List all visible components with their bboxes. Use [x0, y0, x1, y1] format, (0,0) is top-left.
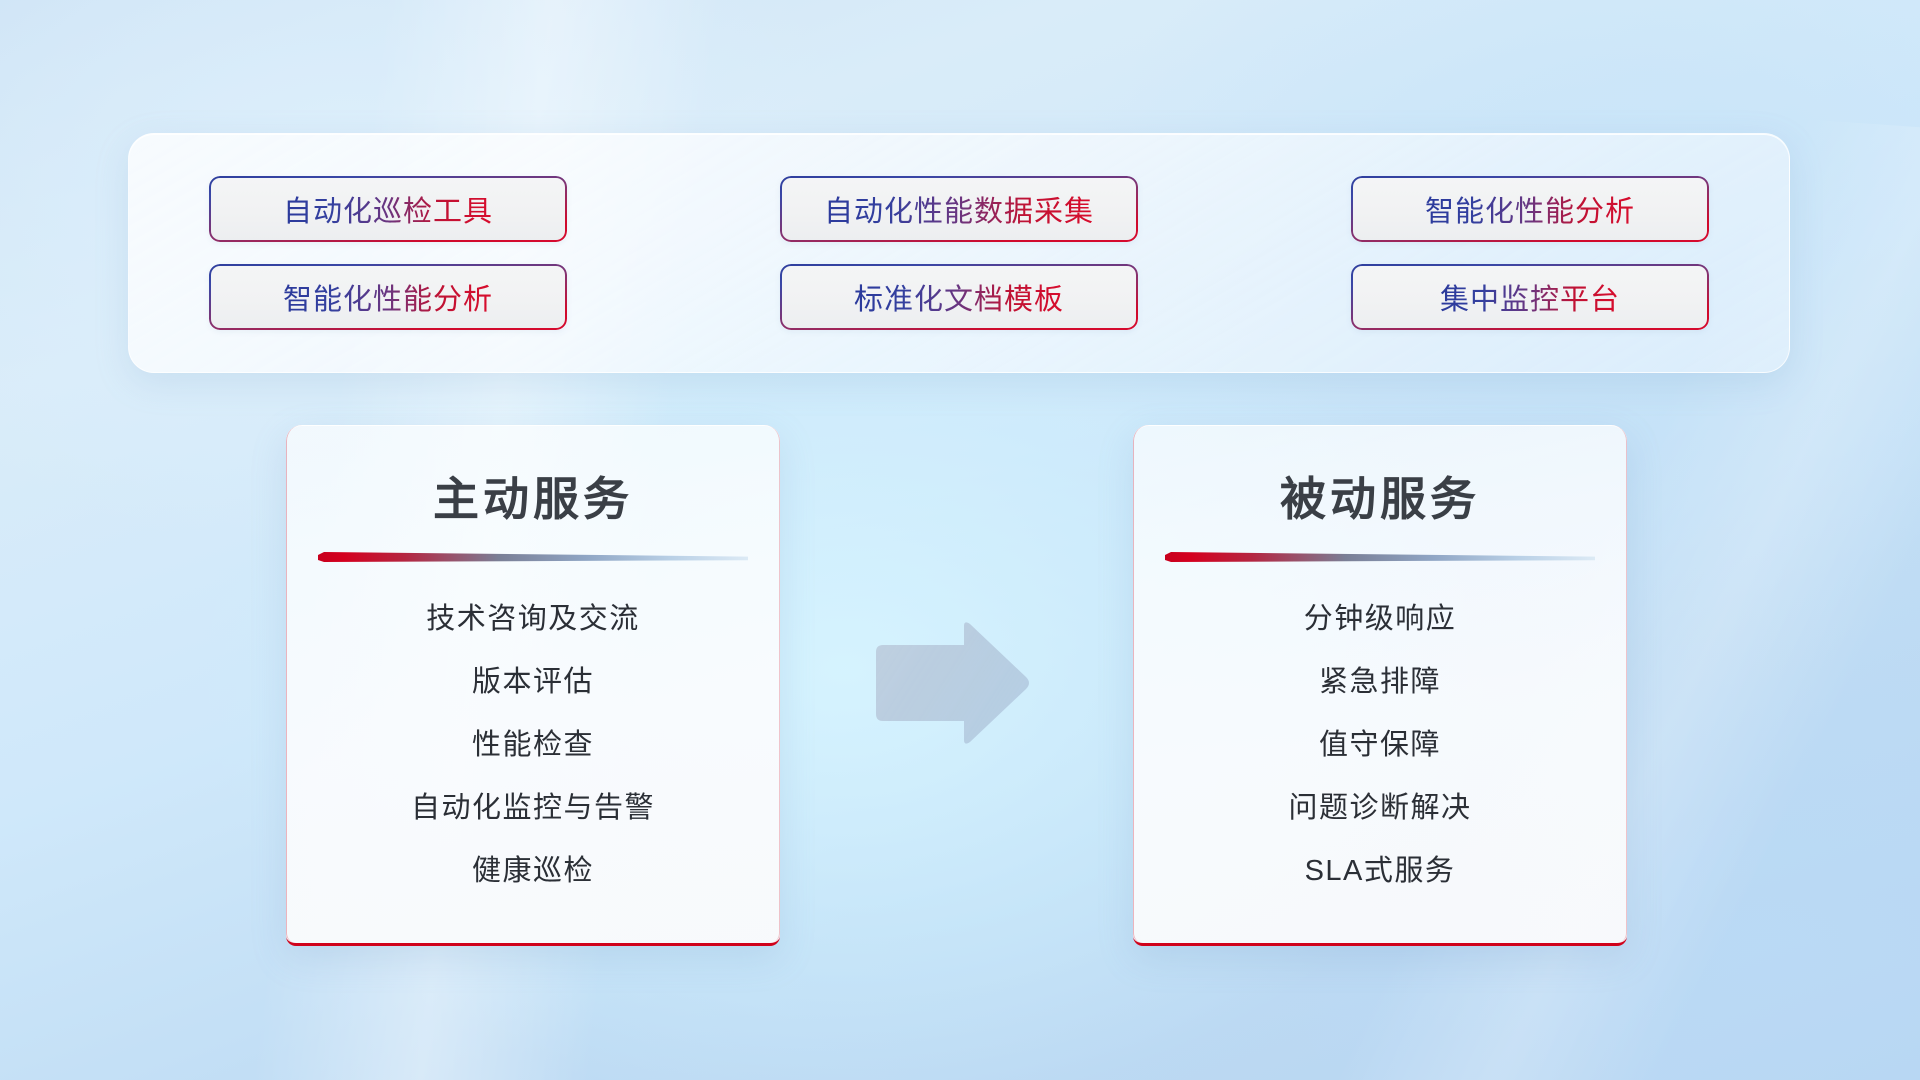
capabilities-panel: 自动化巡检工具 自动化性能数据采集 智能化性能分析 智能化性能分析 标准化文档模…	[128, 133, 1790, 373]
capability-chip[interactable]: 自动化巡检工具	[209, 176, 567, 242]
list-item: 值守保障	[1319, 727, 1441, 764]
flow-arrow-right-icon	[872, 620, 1032, 750]
list-item: 健康巡检	[472, 853, 594, 890]
capabilities-row-2: 智能化性能分析 标准化文档模板 集中监控平台	[209, 264, 1709, 330]
list-item: 分钟级响应	[1304, 601, 1457, 638]
capability-chip[interactable]: 智能化性能分析	[1351, 176, 1709, 242]
card-divider	[1165, 551, 1595, 567]
capability-chip-label: 智能化性能分析	[1425, 188, 1635, 230]
capability-chip[interactable]: 标准化文档模板	[780, 264, 1138, 330]
list-item: 版本评估	[472, 664, 594, 701]
capability-chip-label: 自动化巡检工具	[283, 188, 493, 230]
card-title: 主动服务	[286, 463, 780, 529]
card-title: 被动服务	[1133, 463, 1627, 529]
list-item: 性能检查	[472, 727, 594, 764]
service-card-proactive: 主动服务 技术咨询及交流 版本评估	[286, 425, 780, 946]
capability-chip-label: 自动化性能数据采集	[824, 188, 1094, 230]
list-item: 自动化监控与告警	[411, 790, 655, 827]
service-card-reactive: 被动服务 分钟级响应 紧急排障	[1133, 425, 1627, 946]
capabilities-row-1: 自动化巡检工具 自动化性能数据采集 智能化性能分析	[209, 176, 1709, 242]
list-item: 问题诊断解决	[1288, 790, 1471, 827]
card-divider	[318, 551, 748, 567]
tapered-divider-icon	[1165, 551, 1595, 567]
list-item: SLA式服务	[1305, 853, 1456, 890]
service-list: 技术咨询及交流 版本评估 性能检查 自动化监控与告警 健康巡检	[286, 601, 780, 891]
capability-chip-label: 集中监控平台	[1440, 276, 1620, 318]
list-item: 紧急排障	[1319, 664, 1441, 701]
capability-chip[interactable]: 自动化性能数据采集	[780, 176, 1138, 242]
slide-canvas: 自动化巡检工具 自动化性能数据采集 智能化性能分析 智能化性能分析 标准化文档模…	[0, 0, 1920, 1080]
tapered-divider-icon	[318, 551, 748, 567]
capability-chip[interactable]: 集中监控平台	[1351, 264, 1709, 330]
capability-chip[interactable]: 智能化性能分析	[209, 264, 567, 330]
list-item: 技术咨询及交流	[426, 601, 640, 638]
service-list: 分钟级响应 紧急排障 值守保障 问题诊断解决 SLA式服务	[1133, 601, 1627, 891]
capability-chip-label: 智能化性能分析	[283, 276, 493, 318]
capability-chip-label: 标准化文档模板	[854, 276, 1064, 318]
